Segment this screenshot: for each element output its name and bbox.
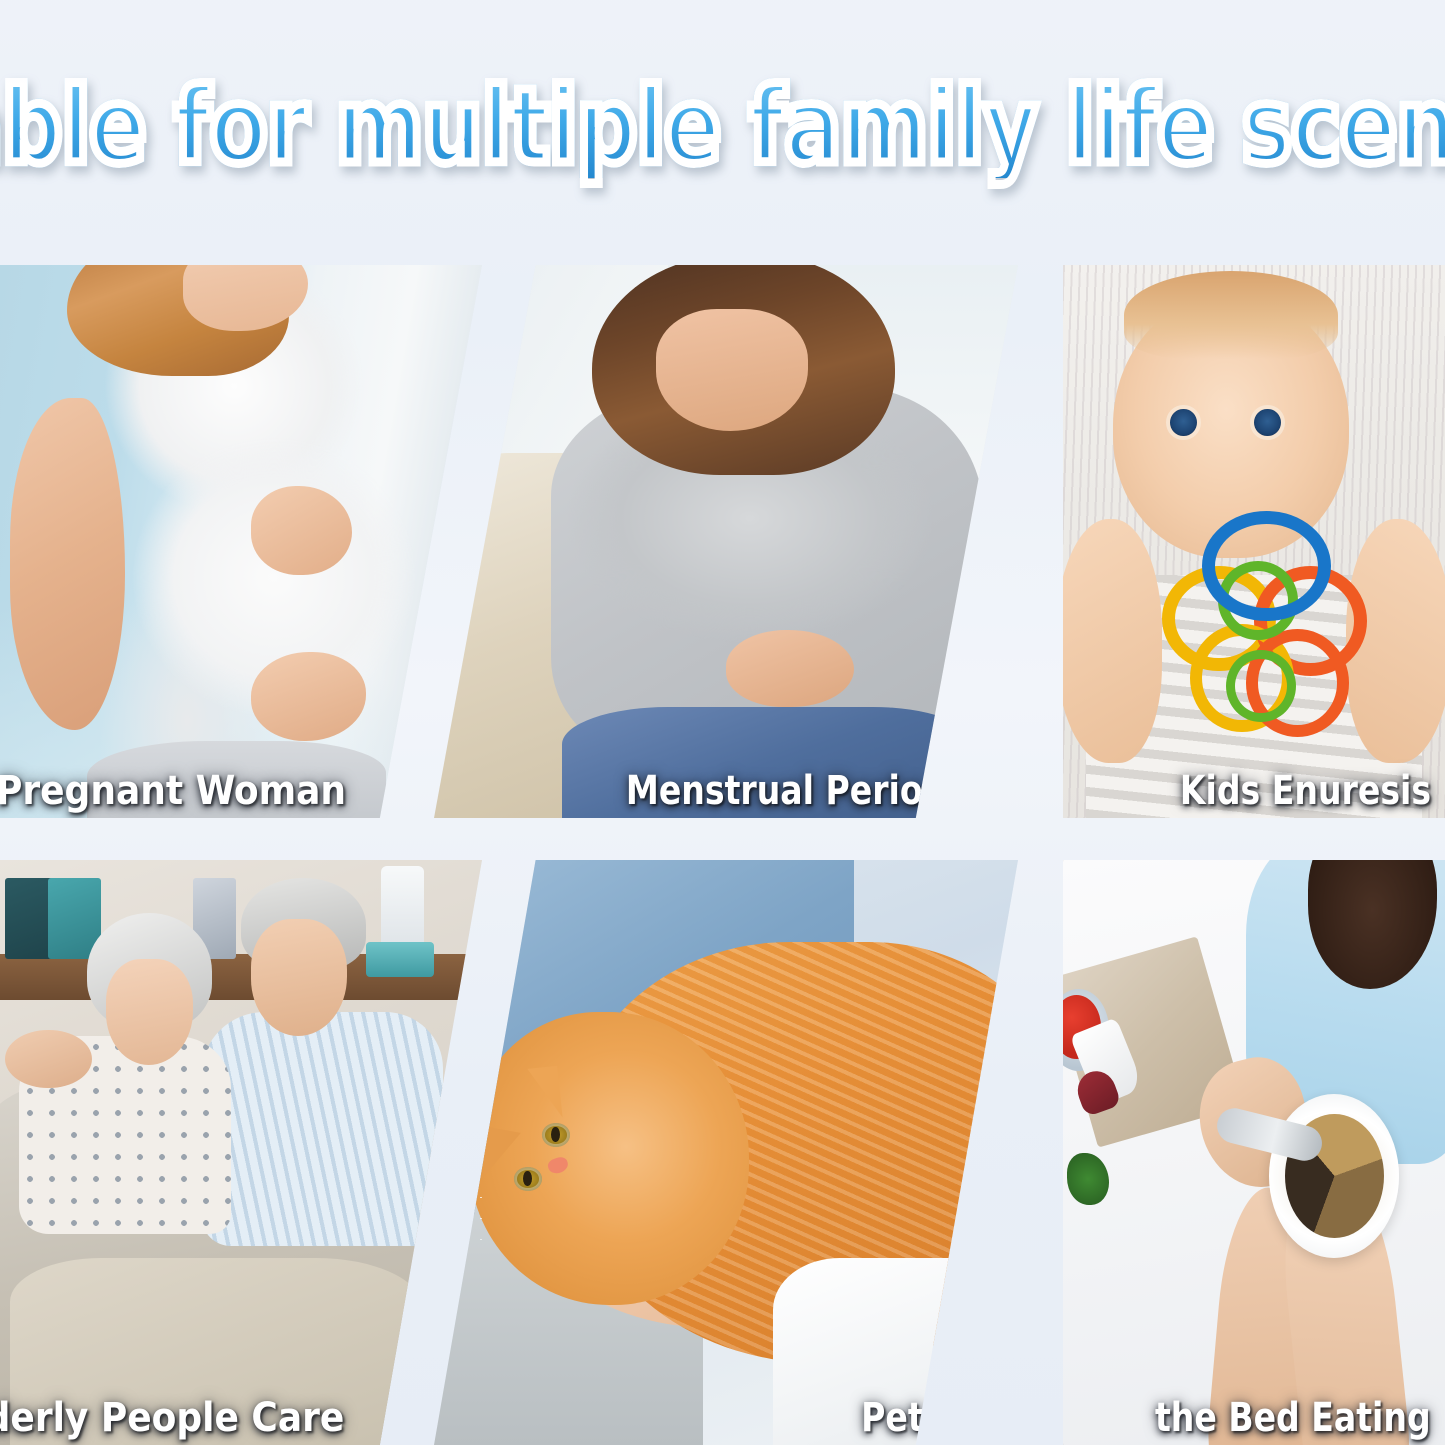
scenario-card-pregnant-woman[interactable]: Pregnant Woman <box>0 265 482 818</box>
elderly-people-care-photo <box>0 860 482 1445</box>
menstrual-period-photo <box>434 265 1018 818</box>
decor-shape <box>1170 409 1197 437</box>
pregnant-woman-photo <box>0 265 482 818</box>
scenario-card-the-bed-eating[interactable]: the Bed Eating <box>1063 860 1445 1445</box>
caption-menstrual-period: Menstrual Period <box>626 770 946 812</box>
scenario-card-elderly-people-care[interactable]: Elderly People Care <box>0 860 482 1445</box>
caption-pregnant-woman: Pregnant Woman <box>0 770 412 812</box>
page-title-container: Suitable for multiple family life scenar… <box>0 56 1445 196</box>
page-title: Suitable for multiple family life scenar… <box>0 74 1445 178</box>
decor-shape <box>251 486 352 574</box>
decor-shape <box>251 919 347 1036</box>
decor-shape <box>366 942 433 977</box>
decor-shape <box>1269 1094 1399 1258</box>
decor-shape <box>10 398 126 730</box>
kids-enuresis-photo <box>1063 265 1445 818</box>
decor-shape <box>5 1030 92 1089</box>
caption-elderly-people-care: Elderly People Care <box>0 1397 387 1439</box>
decor-shape <box>656 309 808 431</box>
caption-kids-enuresis: Kids Enuresis <box>1180 770 1431 812</box>
decor-shape <box>726 630 854 707</box>
decor-shape <box>469 1012 749 1305</box>
decor-shape <box>381 866 424 948</box>
decor-shape <box>5 878 53 960</box>
decor-shape <box>202 1012 443 1246</box>
decor-shape <box>1063 519 1162 762</box>
scenario-row-1: Pregnant Woman Menstrual Period <box>0 265 1445 818</box>
decor-shape <box>106 959 193 1064</box>
scenario-row-2: Elderly People Care Pets <box>0 860 1445 1445</box>
scenario-card-pets[interactable]: Pets <box>434 860 1018 1445</box>
pets-photo <box>434 860 1018 1445</box>
caption-pets: Pets <box>861 1397 943 1439</box>
decor-shape <box>1124 271 1338 359</box>
rainbow-ball-toy <box>1159 519 1358 729</box>
caption-the-bed-eating: the Bed Eating <box>1155 1397 1431 1439</box>
scenario-card-kids-enuresis[interactable]: Kids Enuresis <box>1063 265 1445 818</box>
the-bed-eating-photo <box>1063 860 1445 1445</box>
infographic-poster: Suitable for multiple family life scenar… <box>0 0 1445 1445</box>
decor-shape <box>1254 409 1281 437</box>
scenario-card-menstrual-period[interactable]: Menstrual Period <box>434 265 1018 818</box>
